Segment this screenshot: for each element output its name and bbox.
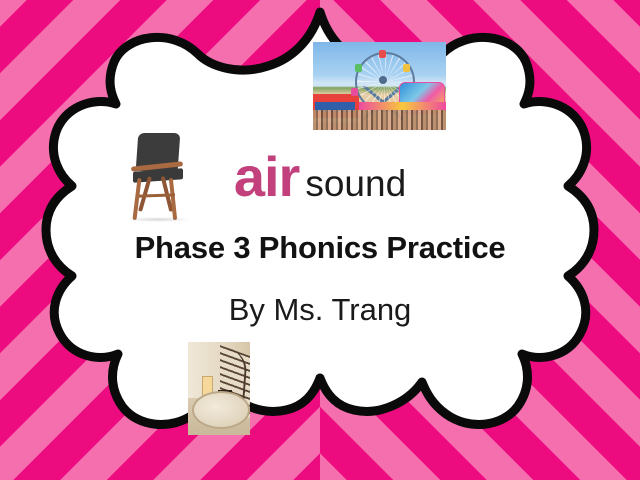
slide-content: airsound Phase 3 Phonics Practice By Ms.… <box>0 0 640 480</box>
fair-crowd <box>313 110 446 130</box>
fair-ferris-wheel-photo <box>313 42 446 130</box>
fair-banner-strip <box>359 102 446 110</box>
phoneme-word: air <box>234 145 300 208</box>
phoneme-heading: airsound <box>0 144 640 209</box>
phoneme-suffix: sound <box>299 163 406 204</box>
ferris-cabin <box>403 64 410 72</box>
stairs-floor-inlay <box>192 391 250 429</box>
ferris-wheel-hub <box>379 76 387 84</box>
ferris-cabin <box>379 50 386 58</box>
stairs-photo <box>188 342 250 435</box>
ferris-cabin <box>355 64 362 72</box>
slide-canvas: airsound Phase 3 Phonics Practice By Ms.… <box>0 0 640 480</box>
page-title: Phase 3 Phonics Practice <box>0 230 640 266</box>
ferris-cabin <box>351 88 358 96</box>
author-line: By Ms. Trang <box>0 292 640 328</box>
chair-shadow <box>125 217 191 222</box>
